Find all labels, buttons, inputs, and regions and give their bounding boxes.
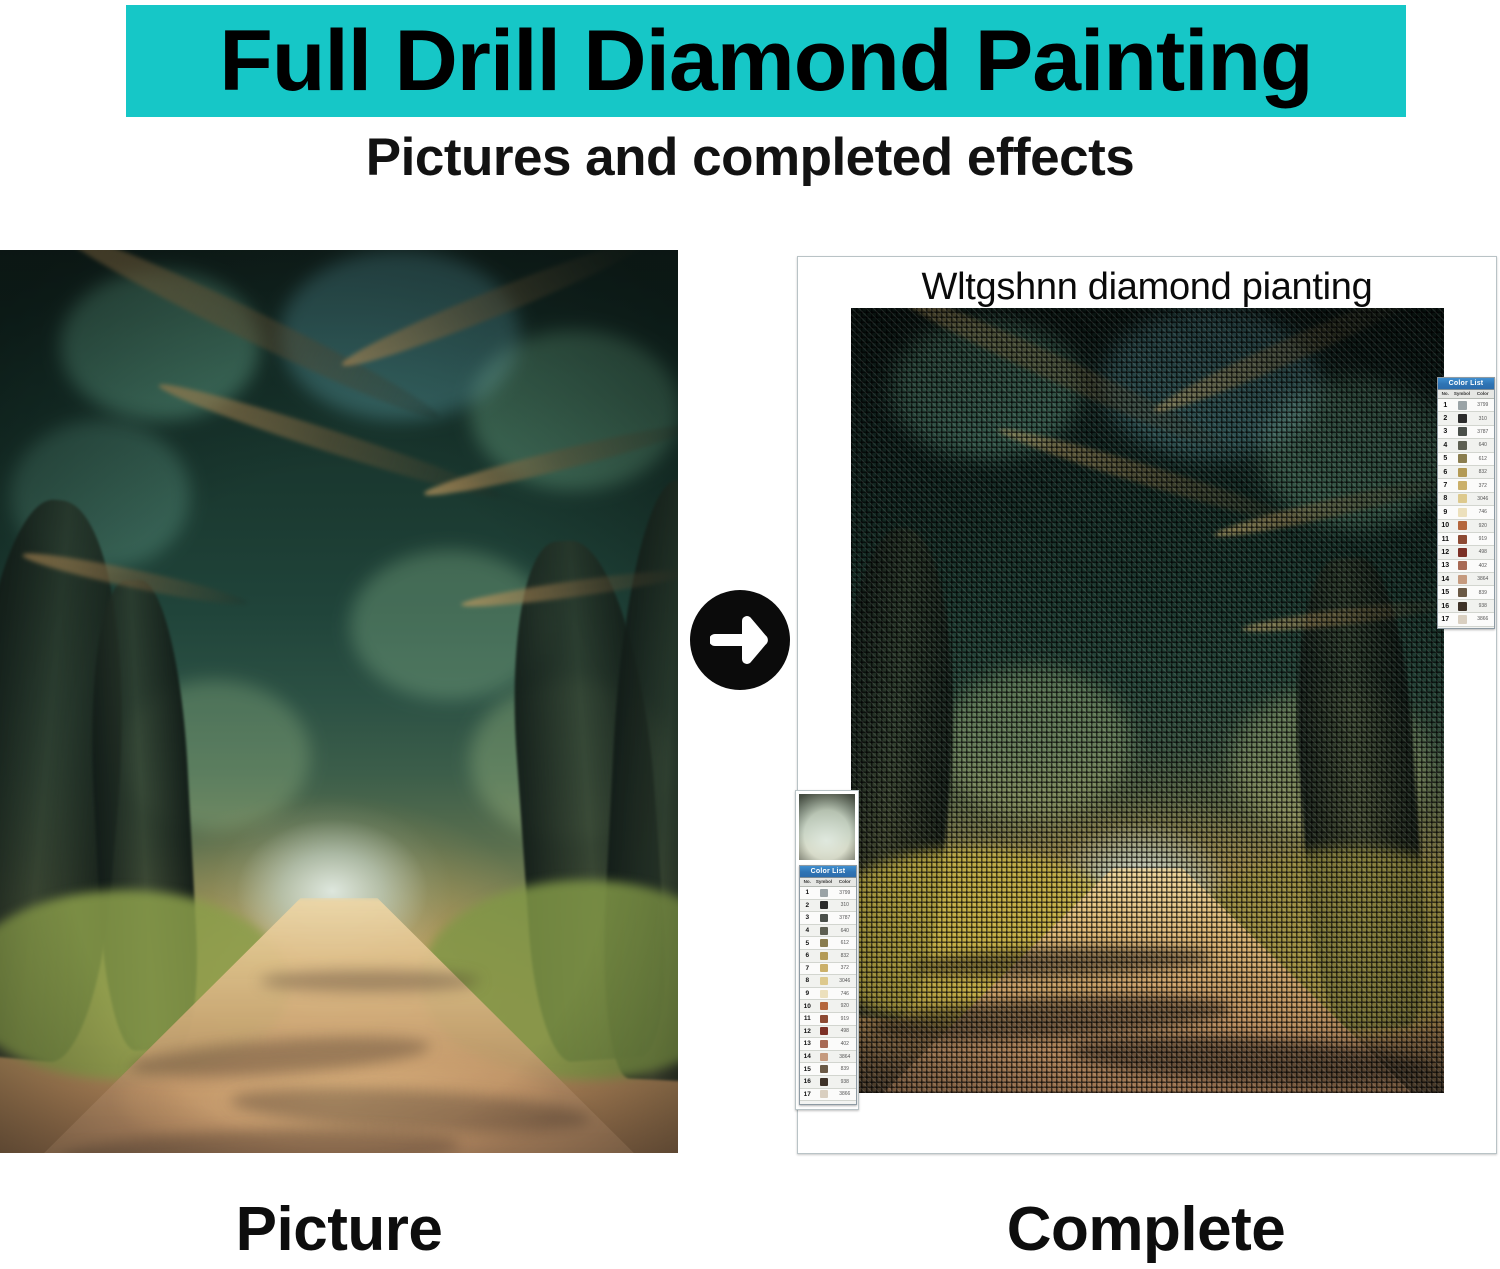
color-row-code: 938 [834, 1079, 856, 1085]
color-list-row: 143864 [1438, 573, 1494, 586]
color-list-title: Color List [800, 866, 856, 878]
color-list-row: 83046 [1438, 493, 1494, 506]
color-row-number: 16 [800, 1078, 815, 1085]
color-row-swatch [1453, 441, 1472, 450]
color-list-column-headers: No. Symbol Color [800, 878, 856, 887]
color-row-number: 9 [1438, 509, 1453, 516]
color-row-code: 612 [1472, 456, 1494, 462]
color-list-row: 10920 [800, 1000, 856, 1013]
color-row-code: 310 [1472, 416, 1494, 422]
color-row-swatch [815, 1065, 834, 1073]
color-list-row: 11919 [1438, 533, 1494, 546]
color-row-number: 7 [800, 965, 815, 972]
color-row-number: 10 [800, 1003, 815, 1010]
color-list-row: 16938 [1438, 600, 1494, 613]
caption-complete: Complete [797, 1199, 1495, 1261]
color-row-swatch [1453, 401, 1472, 410]
color-row-number: 7 [1438, 482, 1453, 489]
color-row-number: 5 [1438, 455, 1453, 462]
color-row-code: 402 [1472, 563, 1494, 569]
column-header-no: No. [800, 878, 815, 886]
mosaic-base-image [851, 308, 1444, 1093]
color-row-number: 15 [800, 1066, 815, 1073]
color-row-swatch [1453, 575, 1472, 584]
completed-canvas: Wltgshnn diamond pianting [797, 256, 1497, 1154]
color-list-rows: 1379923103378746405612683273728304697461… [1438, 399, 1494, 627]
color-list-row: 33787 [800, 912, 856, 925]
color-row-swatch [815, 927, 834, 935]
color-row-swatch [815, 952, 834, 960]
mosaic-vignette [851, 308, 1444, 1093]
inset-reference-card: Color List No. Symbol Color 137992310337… [795, 790, 859, 1110]
color-list-row: 4640 [1438, 439, 1494, 452]
color-row-code: 3864 [1472, 576, 1494, 582]
color-row-number: 2 [1438, 415, 1453, 422]
color-list-row: 9746 [800, 988, 856, 1001]
color-row-code: 402 [834, 1041, 856, 1047]
color-row-code: 746 [1472, 509, 1494, 515]
column-header-no: No. [1438, 390, 1453, 398]
color-row-number: 3 [800, 914, 815, 921]
color-row-swatch [815, 1015, 834, 1023]
color-list-row: 13799 [1438, 399, 1494, 412]
color-row-number: 11 [800, 1015, 815, 1022]
color-row-number: 6 [800, 952, 815, 959]
color-row-swatch [1453, 548, 1472, 557]
color-row-number: 17 [1438, 616, 1453, 623]
color-list-row: 7372 [800, 963, 856, 976]
color-row-swatch [1453, 602, 1472, 611]
column-header-symbol: Symbol [1453, 390, 1472, 398]
column-header-color: Color [834, 878, 856, 886]
color-row-swatch [1453, 468, 1472, 477]
color-list-column-headers: No. Symbol Color [1438, 390, 1494, 399]
color-row-swatch [815, 1002, 834, 1010]
color-row-swatch [1453, 508, 1472, 517]
color-list-row: 13402 [800, 1038, 856, 1051]
color-row-number: 16 [1438, 603, 1453, 610]
color-list-row: 12498 [800, 1026, 856, 1039]
color-list-rows: 1379923103378746405612683273728304697461… [800, 887, 856, 1101]
color-row-swatch [1453, 521, 1472, 530]
color-row-swatch [815, 889, 834, 897]
diamond-mosaic-artwork [851, 308, 1444, 1093]
color-list-row: 13402 [1438, 560, 1494, 573]
color-list-legend-inset: Color List No. Symbol Color 137992310337… [799, 865, 857, 1105]
color-row-code: 3864 [834, 1054, 856, 1060]
color-row-swatch [815, 1040, 834, 1048]
original-picture [0, 250, 678, 1153]
color-row-code: 498 [1472, 549, 1494, 555]
color-row-code: 832 [1472, 469, 1494, 475]
color-row-number: 13 [1438, 562, 1453, 569]
color-list-row: 33787 [1438, 426, 1494, 439]
color-row-number: 11 [1438, 536, 1453, 543]
column-header-symbol: Symbol [815, 878, 834, 886]
color-row-number: 17 [800, 1091, 815, 1098]
color-row-swatch [1453, 588, 1472, 597]
color-row-number: 3 [1438, 428, 1453, 435]
color-list-row: 10920 [1438, 520, 1494, 533]
color-row-number: 2 [800, 902, 815, 909]
color-row-swatch [1453, 615, 1472, 624]
page-title: Full Drill Diamond Painting [219, 18, 1312, 104]
color-row-number: 6 [1438, 469, 1453, 476]
color-row-swatch [1453, 454, 1472, 463]
color-row-number: 1 [800, 889, 815, 896]
color-row-number: 8 [800, 977, 815, 984]
color-list-row: 143864 [800, 1051, 856, 1064]
color-row-swatch [815, 990, 834, 998]
color-list-row: 13799 [800, 887, 856, 900]
color-row-swatch [815, 1027, 834, 1035]
color-row-code: 3046 [1472, 496, 1494, 502]
color-row-code: 640 [834, 928, 856, 934]
color-list-row: 2310 [800, 900, 856, 913]
color-list-row: 16938 [800, 1076, 856, 1089]
photo-vignette [0, 250, 678, 1153]
color-row-swatch [1453, 427, 1472, 436]
color-list-row: 15839 [1438, 586, 1494, 599]
color-row-code: 372 [1472, 483, 1494, 489]
color-row-code: 920 [1472, 523, 1494, 529]
color-list-row: 5612 [800, 937, 856, 950]
color-row-number: 10 [1438, 522, 1453, 529]
color-row-code: 3799 [834, 890, 856, 896]
color-list-row: 7372 [1438, 479, 1494, 492]
color-row-code: 3866 [834, 1091, 856, 1097]
color-row-code: 372 [834, 965, 856, 971]
color-row-code: 938 [1472, 603, 1494, 609]
color-list-legend-main: Color List No. Symbol Color 137992310337… [1437, 377, 1495, 629]
color-list-row: 6832 [800, 950, 856, 963]
color-row-code: 612 [834, 940, 856, 946]
column-header-color: Color [1472, 390, 1494, 398]
color-row-number: 13 [800, 1040, 815, 1047]
color-row-number: 5 [800, 940, 815, 947]
color-row-swatch [1453, 561, 1472, 570]
color-row-swatch [815, 914, 834, 922]
arrow-right-circle-icon [690, 590, 790, 690]
color-row-code: 3046 [834, 978, 856, 984]
color-list-row: 2310 [1438, 412, 1494, 425]
color-list-row: 6832 [1438, 466, 1494, 479]
color-row-number: 4 [1438, 442, 1453, 449]
color-row-swatch [815, 1090, 834, 1098]
page-subtitle: Pictures and completed effects [0, 130, 1500, 186]
color-row-swatch [1453, 481, 1472, 490]
color-row-swatch [815, 901, 834, 909]
color-list-title: Color List [1438, 378, 1494, 390]
color-row-swatch [1453, 494, 1472, 503]
color-row-code: 839 [834, 1066, 856, 1072]
color-row-swatch [815, 977, 834, 985]
color-row-code: 832 [834, 953, 856, 959]
color-row-swatch [815, 1078, 834, 1086]
color-row-code: 920 [834, 1003, 856, 1009]
color-list-row: 9746 [1438, 506, 1494, 519]
color-row-number: 8 [1438, 495, 1453, 502]
caption-picture: Picture [0, 1199, 678, 1261]
color-list-row: 11919 [800, 1013, 856, 1026]
color-row-number: 14 [1438, 576, 1453, 583]
color-row-number: 15 [1438, 589, 1453, 596]
color-row-number: 9 [800, 990, 815, 997]
color-row-code: 640 [1472, 442, 1494, 448]
color-row-code: 310 [834, 902, 856, 908]
color-row-swatch [815, 1053, 834, 1061]
color-row-number: 4 [800, 927, 815, 934]
color-row-code: 3866 [1472, 616, 1494, 622]
color-list-row: 4640 [800, 925, 856, 938]
color-row-number: 14 [800, 1053, 815, 1060]
color-row-swatch [1453, 535, 1472, 544]
color-row-swatch [815, 939, 834, 947]
color-row-code: 919 [834, 1016, 856, 1022]
color-row-code: 839 [1472, 590, 1494, 596]
inset-photo-thumbnail [799, 794, 855, 860]
color-row-swatch [815, 964, 834, 972]
color-list-row: 83046 [800, 975, 856, 988]
color-row-code: 746 [834, 991, 856, 997]
color-list-row: 15839 [800, 1063, 856, 1076]
color-list-row: 5612 [1438, 453, 1494, 466]
color-row-code: 919 [1472, 536, 1494, 542]
color-row-number: 12 [800, 1028, 815, 1035]
color-row-number: 1 [1438, 402, 1453, 409]
color-list-row: 173866 [1438, 613, 1494, 626]
forest-photo-illustration [0, 250, 678, 1153]
color-list-row: 173866 [800, 1089, 856, 1102]
color-row-code: 498 [834, 1028, 856, 1034]
color-list-row: 12498 [1438, 546, 1494, 559]
color-row-code: 3787 [834, 915, 856, 921]
color-row-number: 12 [1438, 549, 1453, 556]
color-row-swatch [1453, 414, 1472, 423]
color-row-code: 3787 [1472, 429, 1494, 435]
title-banner: Full Drill Diamond Painting [126, 5, 1406, 117]
canvas-brand-heading: Wltgshnn diamond pianting [798, 267, 1496, 309]
color-row-code: 3799 [1472, 402, 1494, 408]
